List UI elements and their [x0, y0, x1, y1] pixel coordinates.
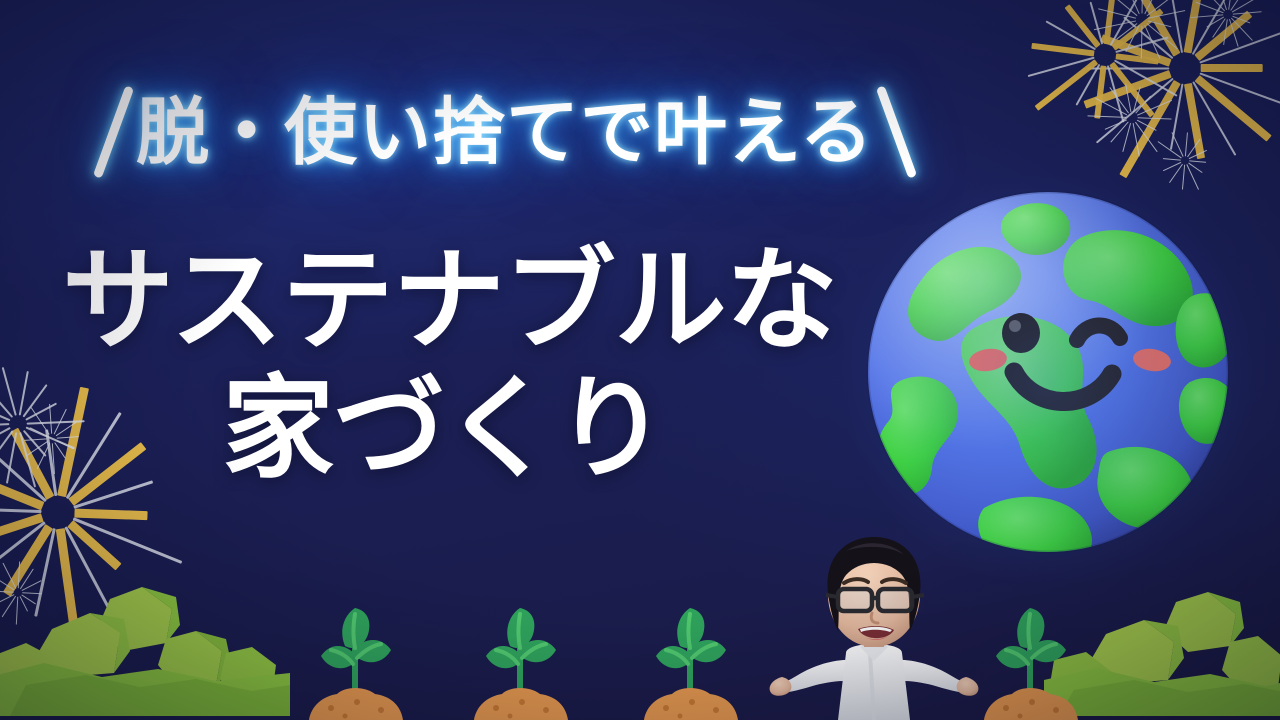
main-title: サステナブルな 家づくり	[62, 238, 942, 493]
sprout-svg	[630, 602, 750, 720]
firework-spoke	[1088, 116, 1127, 119]
plant-sprout	[460, 602, 580, 720]
plant-sprout	[295, 602, 415, 720]
firework-spoke	[1163, 158, 1181, 161]
bush-left-svg	[0, 581, 290, 716]
sprout-svg	[295, 602, 415, 720]
sprout-svg	[970, 602, 1090, 720]
firework-spoke	[1157, 140, 1181, 158]
low-poly-bush-left	[0, 581, 290, 720]
subtitle-text: 脱・使い捨てで叶える	[136, 96, 874, 169]
firework-spoke	[1185, 132, 1188, 156]
firework-burst	[1098, 0, 1186, 64]
firework-spoke	[1189, 160, 1206, 162]
slash-left-icon	[93, 85, 134, 178]
firework-spoke	[1223, 19, 1228, 45]
sprout-svg	[460, 602, 580, 720]
firework-spoke	[1141, 26, 1143, 59]
title-line-1: サステナブルな	[62, 238, 942, 366]
firework-spoke	[1146, 23, 1178, 50]
firework-spoke	[1095, 98, 1127, 116]
firework-spoke	[1137, 100, 1172, 116]
firework-spoke	[1233, 11, 1262, 14]
firework-spoke	[1142, 0, 1144, 14]
plant-sprout	[970, 602, 1090, 720]
slash-right-icon	[876, 85, 917, 178]
firework-spoke	[1148, 10, 1185, 19]
firework-burst	[1194, 0, 1262, 48]
firework-spoke	[1144, 25, 1160, 59]
firework-spoke	[49, 403, 52, 433]
firework-spoke	[6, 432, 17, 484]
firework-spoke	[1190, 14, 1223, 18]
person-caricature	[768, 535, 980, 720]
firework-spoke	[74, 508, 147, 519]
person-svg	[768, 535, 980, 720]
firework-spoke	[1031, 43, 1094, 56]
firework-spoke	[0, 424, 9, 427]
firework-burst	[1155, 130, 1215, 190]
firework-spoke	[24, 438, 47, 441]
plant-sprout	[630, 602, 750, 720]
title-line-2: 家づくり	[62, 366, 942, 494]
thumbnail-canvas: 脱・使い捨てで叶える サステナブルな 家づくり	[0, 0, 1280, 720]
firework-spoke	[52, 443, 55, 474]
firework-spoke	[1138, 118, 1172, 120]
firework-spoke	[1201, 64, 1263, 72]
subtitle-row: 脱・使い捨てで叶える	[0, 72, 1010, 192]
